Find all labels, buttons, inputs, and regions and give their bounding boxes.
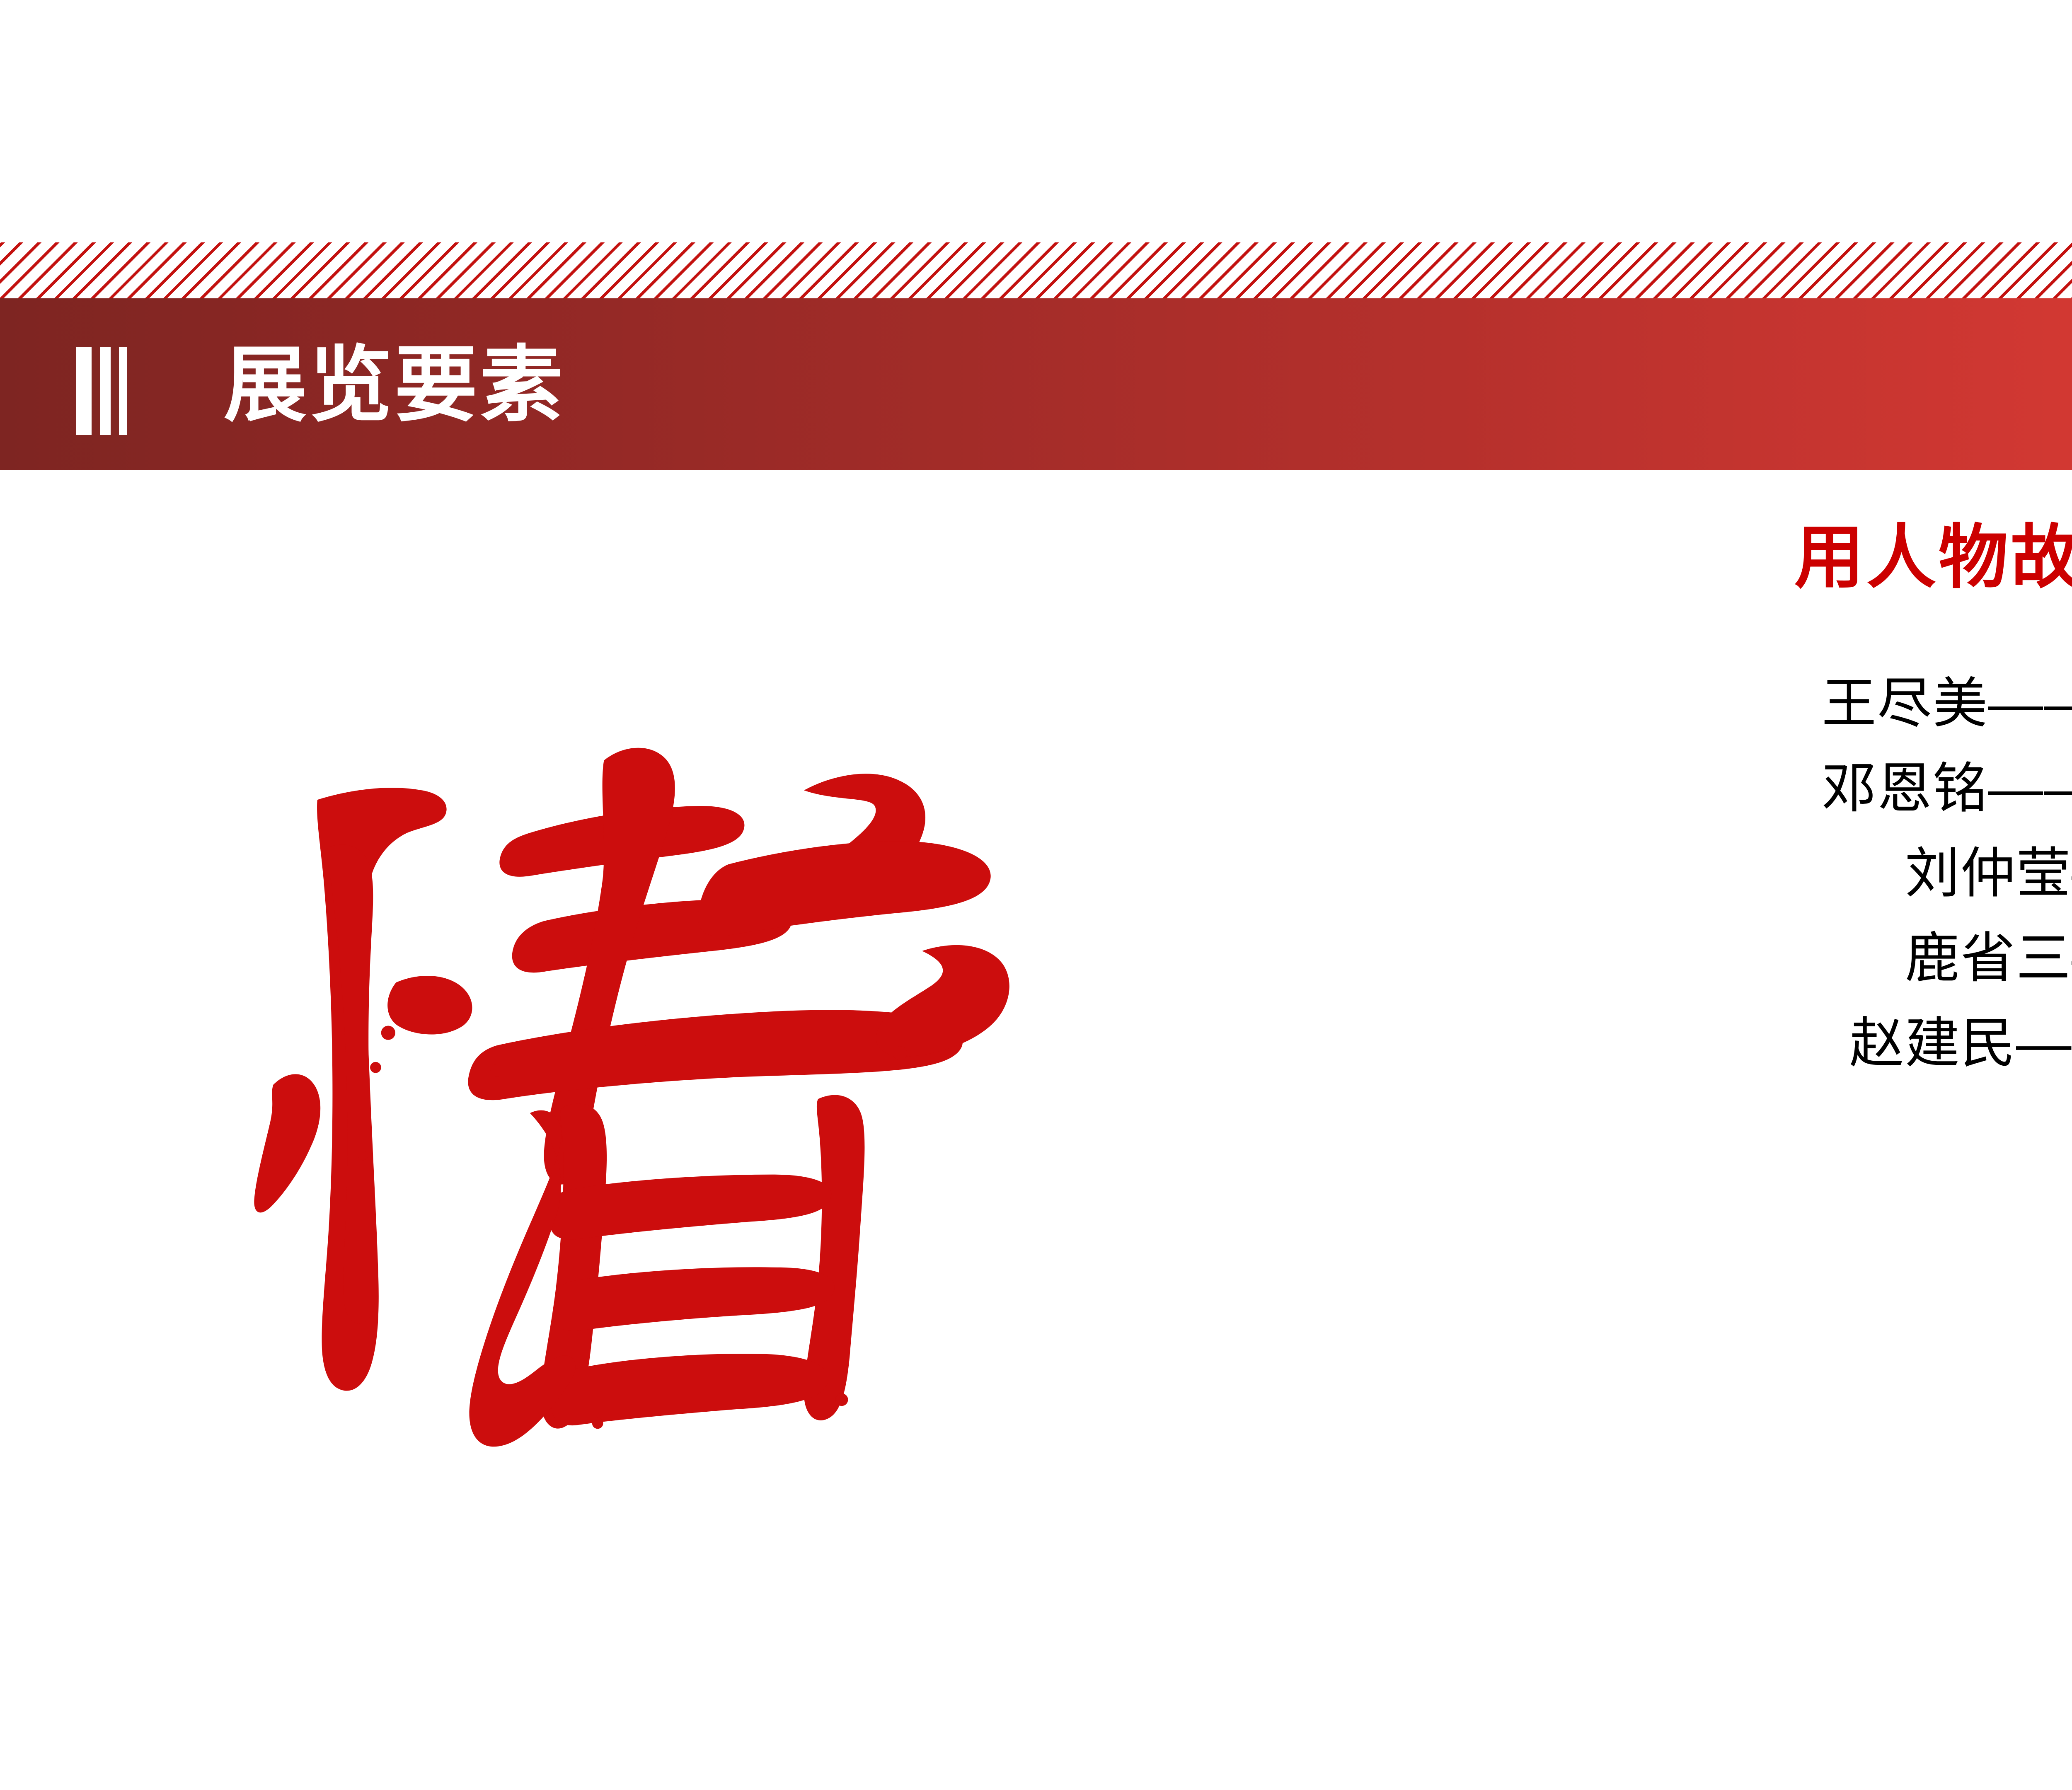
list-item: 鹿省三——乞讨回鲁 [1533,916,2072,1001]
bar-medium [100,347,111,435]
story-list: 王尽美——尽善尽美唯解放 邓恩铭——不惜唯我身先死 刘仲莹——卖房卖地 鹿省三—… [1533,661,2072,1086]
bar-narrow [119,347,127,435]
three-bars-icon [76,347,127,435]
content-area: 用人物故事来感染观众 王尽美——尽善尽美唯解放 邓恩铭——不惜唯我身先死 刘仲莹… [0,470,2072,1790]
diagonal-stripe-band [0,242,2072,298]
page-title: 用人物故事来感染观众 [1533,516,2072,599]
slide-canvas: 展览要素 齐鲁曙光----中共山东早期历史纪念馆 The Early Rise … [0,0,2072,1790]
list-item: 邓恩铭——不惜唯我身先死 [1533,746,2072,831]
list-item: 赵建民——骑车千里寻党 [1533,1001,2072,1086]
list-item: 刘仲莹——卖房卖地 [1533,831,2072,916]
story-text-column: 用人物故事来感染观众 王尽美——尽善尽美唯解放 邓恩铭——不惜唯我身先死 刘仲莹… [1533,516,2072,1086]
calligraphy-character-qing [232,715,1061,1502]
list-item: 王尽美——尽善尽美唯解放 [1533,661,2072,746]
header-title: 展览要素 [224,331,565,439]
bar-wide [76,347,92,435]
